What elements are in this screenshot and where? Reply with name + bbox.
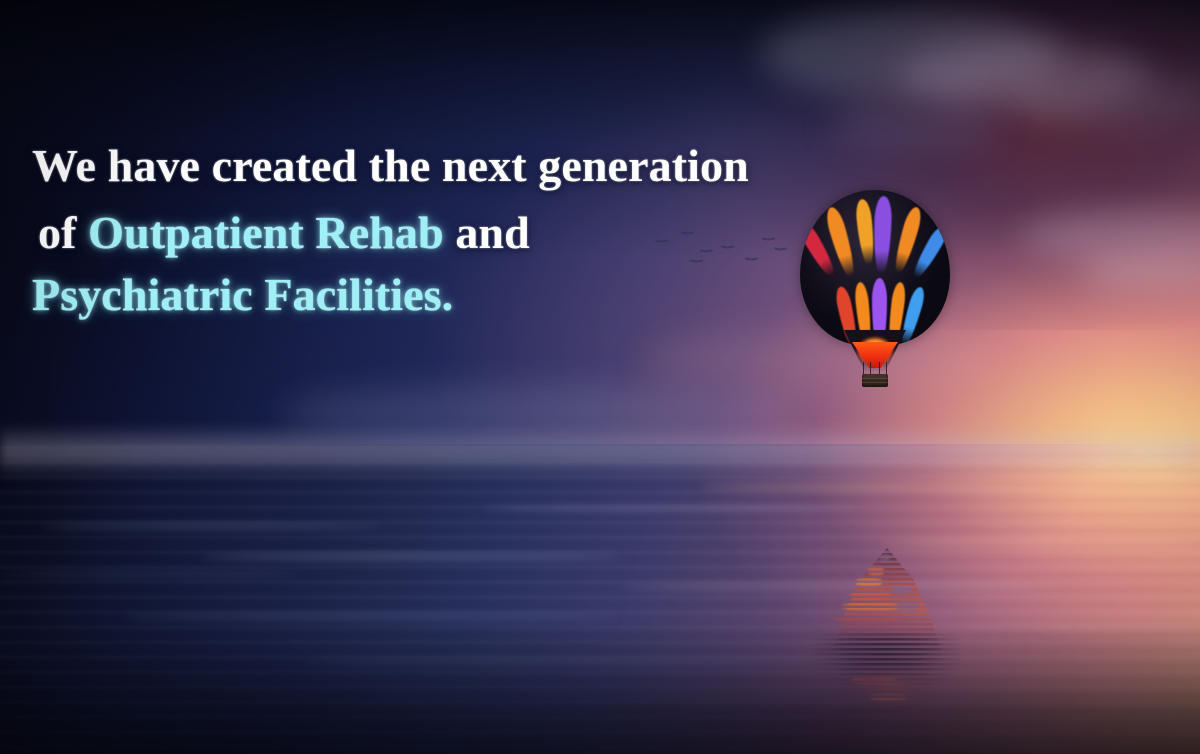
- headline-line-2-prefix: of: [38, 207, 88, 258]
- headline-block: We have created the next generation of O…: [32, 143, 812, 318]
- headline-highlight-psychiatric-facilities: Psychiatric Facilities.: [32, 272, 812, 318]
- balloon-gore-4: [873, 196, 893, 275]
- hero-banner: We have created the next generation of O…: [0, 0, 1200, 754]
- balloon-gore-3: [855, 198, 877, 265]
- balloon-envelope: [800, 190, 950, 345]
- headline-highlight-outpatient-rehab: Outpatient Rehab: [88, 207, 444, 258]
- headline-line-2-suffix: and: [444, 207, 530, 258]
- balloon-basket: [862, 374, 888, 387]
- headline-line-2: of Outpatient Rehab and: [32, 210, 812, 256]
- headline-line-1: We have created the next generation: [32, 143, 812, 189]
- bird-flock: [0, 0, 1200, 754]
- hot-air-balloon: [800, 190, 965, 385]
